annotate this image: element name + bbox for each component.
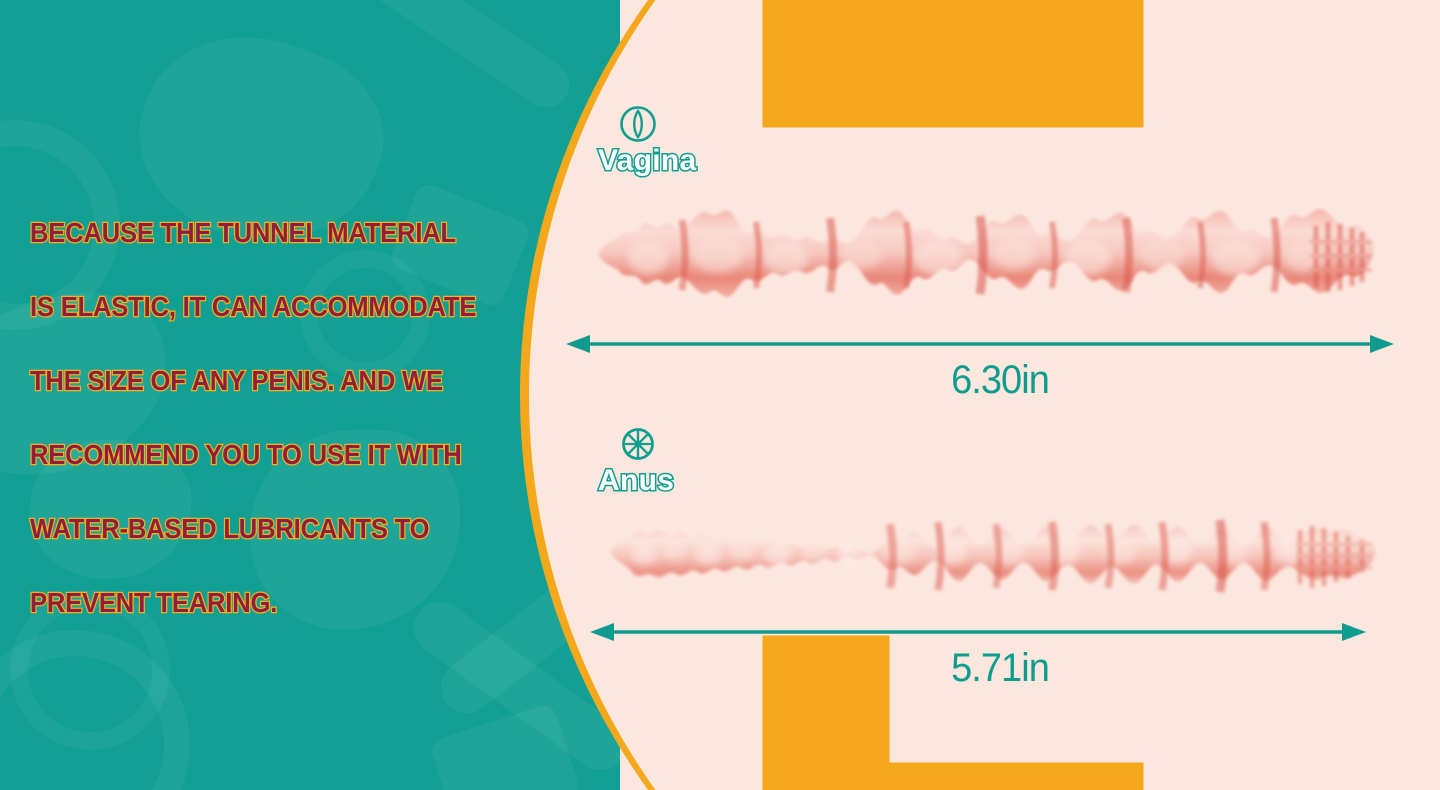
anus-icon <box>618 424 658 464</box>
copy-line: THE SIZE OF ANY PENIS. AND WE <box>30 344 495 418</box>
copy-line: IS ELASTIC, IT CAN ACCOMMODATE <box>30 270 495 344</box>
spec-label-vagina: Vagina <box>598 144 697 178</box>
copy-line: BECAUSE THE TUNNEL MATERIAL <box>30 196 495 270</box>
spec-panel: Vagina <box>560 0 1440 790</box>
dimension-anus: 5.71in <box>560 620 1440 691</box>
dimension-value-vagina: 6.30in <box>582 358 1418 403</box>
dimension-arrow-icon <box>560 620 1440 644</box>
dimension-value-anus: 5.71in <box>582 646 1418 691</box>
spec-label-anus: Anus <box>598 464 674 498</box>
product-texture-anus <box>600 500 1380 608</box>
product-texture-vagina <box>590 192 1380 312</box>
dimension-arrow-icon <box>560 332 1440 356</box>
dimension-vagina: 6.30in <box>560 332 1440 403</box>
watermark-bar-icon <box>362 0 578 116</box>
copy-line: PREVENT TEARING. <box>30 566 495 640</box>
product-feature-banner: BECAUSE THE TUNNEL MATERIAL IS ELASTIC, … <box>0 0 1440 790</box>
vagina-icon <box>618 104 658 144</box>
copy-line: WATER-BASED LUBRICANTS TO <box>30 492 495 566</box>
copy-line: RECOMMEND YOU TO USE IT WITH <box>30 418 495 492</box>
watermark-ring-icon <box>0 630 190 790</box>
watermark-card-icon <box>429 702 582 790</box>
marketing-copy: BECAUSE THE TUNNEL MATERIAL IS ELASTIC, … <box>30 196 530 640</box>
